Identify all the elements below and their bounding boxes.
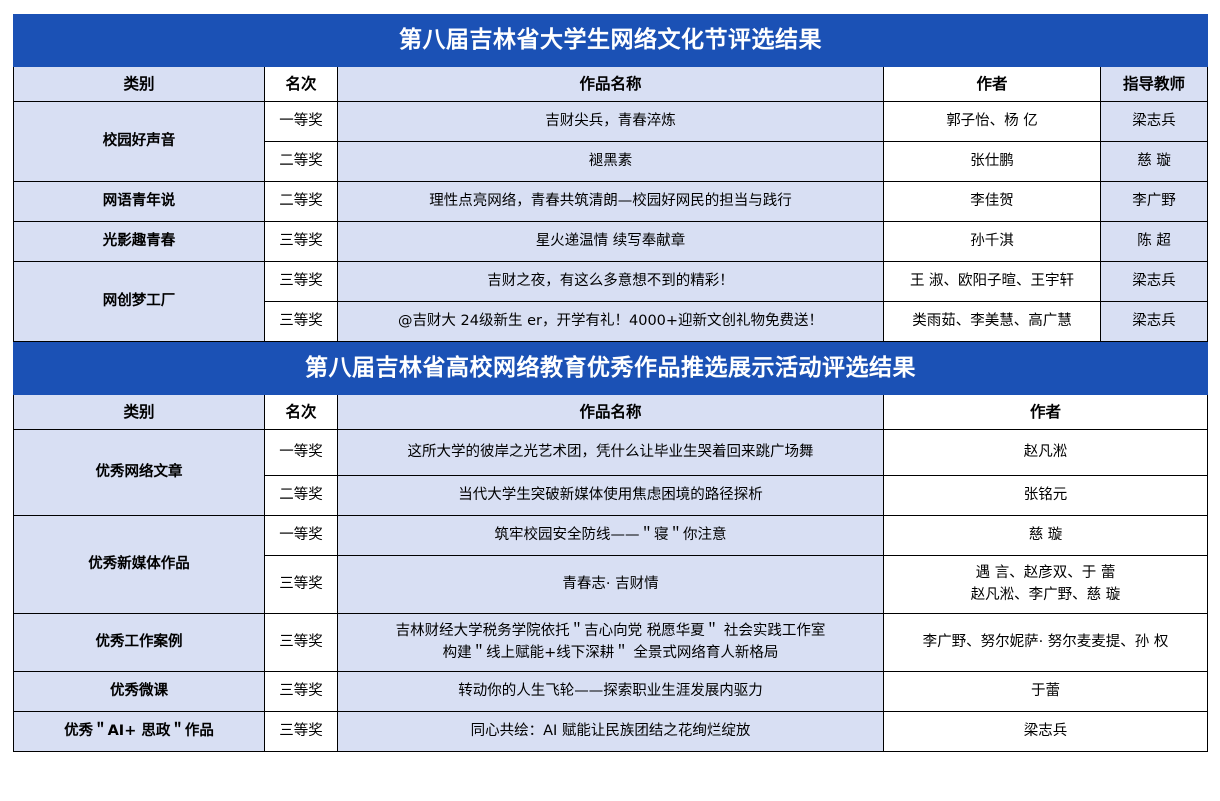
category-cell: 优秀工作案例: [14, 614, 265, 672]
table-1-col-rank: 名次: [265, 67, 338, 102]
rank-cell: 三等奖: [265, 712, 338, 752]
work-title-cell: 理性点亮网络，青春共筑清朗—校园好网民的担当与践行: [338, 182, 884, 222]
author-cell: 于蕾: [884, 672, 1208, 712]
rank-cell: 二等奖: [265, 182, 338, 222]
table-2-title-row: 第八届吉林省高校网络教育优秀作品推选展示活动评选结果: [14, 343, 1208, 395]
author-cell: 王 淑、欧阳子暄、王宇轩: [884, 262, 1101, 302]
rank-cell: 三等奖: [265, 302, 338, 342]
table-1-col-work: 作品名称: [338, 67, 884, 102]
work-title-cell: @吉财大 24级新生 er，开学有礼！4000+迎新文创礼物免费送！: [338, 302, 884, 342]
work-title-cell: 筑牢校园安全防线——＂寝＂你注意: [338, 516, 884, 556]
rank-cell: 三等奖: [265, 614, 338, 672]
category-cell: 网创梦工厂: [14, 262, 265, 342]
rank-cell: 二等奖: [265, 142, 338, 182]
rank-cell: 三等奖: [265, 672, 338, 712]
awards-table-1: 第八届吉林省大学生网络文化节评选结果 类别 名次 作品名称 作者 指导教师 校园…: [13, 14, 1208, 342]
author-cell: 孙千淇: [884, 222, 1101, 262]
table-row: 网语青年说 二等奖 理性点亮网络，青春共筑清朗—校园好网民的担当与践行 李佳贺 …: [14, 182, 1208, 222]
work-title-cell: 青春志· 吉财情: [338, 556, 884, 614]
rank-cell: 三等奖: [265, 556, 338, 614]
table-1-header-row: 类别 名次 作品名称 作者 指导教师: [14, 67, 1208, 102]
work-title-cell: 褪黑素: [338, 142, 884, 182]
category-cell: 网语青年说: [14, 182, 265, 222]
teacher-cell: 陈 超: [1101, 222, 1208, 262]
table-2-title: 第八届吉林省高校网络教育优秀作品推选展示活动评选结果: [14, 343, 1208, 395]
teacher-cell: 慈 璇: [1101, 142, 1208, 182]
category-cell: 校园好声音: [14, 102, 265, 182]
category-cell: 优秀网络文章: [14, 430, 265, 516]
category-cell: 光影趣青春: [14, 222, 265, 262]
teacher-cell: 梁志兵: [1101, 102, 1208, 142]
table-1-col-author: 作者: [884, 67, 1101, 102]
work-title-cell: 这所大学的彼岸之光艺术团，凭什么让毕业生哭着回来跳广场舞: [338, 430, 884, 476]
author-cell: 李广野、努尔妮萨· 努尔麦麦提、孙 权: [884, 614, 1208, 672]
work-title-cell: 当代大学生突破新媒体使用焦虑困境的路径探析: [338, 476, 884, 516]
author-cell: 张铭元: [884, 476, 1208, 516]
work-title-cell: 星火递温情 续写奉献章: [338, 222, 884, 262]
document-page: 第八届吉林省大学生网络文化节评选结果 类别 名次 作品名称 作者 指导教师 校园…: [0, 0, 1220, 801]
author-cell: 赵凡淞: [884, 430, 1208, 476]
category-cell: 优秀新媒体作品: [14, 516, 265, 614]
table-row: 优秀＂AI+ 思政＂作品 三等奖 同心共绘：AI 赋能让民族团结之花绚烂绽放 梁…: [14, 712, 1208, 752]
author-cell: 梁志兵: [884, 712, 1208, 752]
table-1-col-teacher: 指导教师: [1101, 67, 1208, 102]
table-row: 优秀新媒体作品 一等奖 筑牢校园安全防线——＂寝＂你注意 慈 璇: [14, 516, 1208, 556]
category-cell: 优秀＂AI+ 思政＂作品: [14, 712, 265, 752]
category-cell: 优秀微课: [14, 672, 265, 712]
table-1-col-category: 类别: [14, 67, 265, 102]
author-cell: 类雨茹、李美慧、高广慧: [884, 302, 1101, 342]
work-title-cell: 吉财尖兵，青春淬炼: [338, 102, 884, 142]
table-1-title-row: 第八届吉林省大学生网络文化节评选结果: [14, 15, 1208, 67]
table-2-header-row: 类别 名次 作品名称 作者: [14, 395, 1208, 430]
work-title-cell: 转动你的人生飞轮——探索职业生涯发展内驱力: [338, 672, 884, 712]
table-2-col-author: 作者: [884, 395, 1208, 430]
author-cell: 遇 言、赵彦双、于 蕾 赵凡淞、李广野、慈 璇: [884, 556, 1208, 614]
table-row: 校园好声音 一等奖 吉财尖兵，青春淬炼 郭子怡、杨 亿 梁志兵: [14, 102, 1208, 142]
author-cell: 李佳贺: [884, 182, 1101, 222]
table-row: 优秀微课 三等奖 转动你的人生飞轮——探索职业生涯发展内驱力 于蕾: [14, 672, 1208, 712]
rank-cell: 一等奖: [265, 430, 338, 476]
author-cell: 张仕鹏: [884, 142, 1101, 182]
table-row: 优秀网络文章 一等奖 这所大学的彼岸之光艺术团，凭什么让毕业生哭着回来跳广场舞 …: [14, 430, 1208, 476]
rank-cell: 二等奖: [265, 476, 338, 516]
author-cell: 郭子怡、杨 亿: [884, 102, 1101, 142]
table-row: 优秀工作案例 三等奖 吉林财经大学税务学院依托＂吉心向党 税愿华夏＂ 社会实践工…: [14, 614, 1208, 672]
teacher-cell: 梁志兵: [1101, 262, 1208, 302]
work-title-cell: 吉林财经大学税务学院依托＂吉心向党 税愿华夏＂ 社会实践工作室 构建＂线上赋能+…: [338, 614, 884, 672]
table-2-col-category: 类别: [14, 395, 265, 430]
table-2-col-rank: 名次: [265, 395, 338, 430]
teacher-cell: 李广野: [1101, 182, 1208, 222]
work-title-cell: 同心共绘：AI 赋能让民族团结之花绚烂绽放: [338, 712, 884, 752]
rank-cell: 一等奖: [265, 102, 338, 142]
work-title-cell: 吉财之夜，有这么多意想不到的精彩！: [338, 262, 884, 302]
table-row: 光影趣青春 三等奖 星火递温情 续写奉献章 孙千淇 陈 超: [14, 222, 1208, 262]
awards-table-2: 第八届吉林省高校网络教育优秀作品推选展示活动评选结果 类别 名次 作品名称 作者…: [13, 342, 1208, 752]
rank-cell: 一等奖: [265, 516, 338, 556]
rank-cell: 三等奖: [265, 222, 338, 262]
table-2-col-work: 作品名称: [338, 395, 884, 430]
table-1-title: 第八届吉林省大学生网络文化节评选结果: [14, 15, 1208, 67]
author-cell: 慈 璇: [884, 516, 1208, 556]
teacher-cell: 梁志兵: [1101, 302, 1208, 342]
rank-cell: 三等奖: [265, 262, 338, 302]
table-row: 网创梦工厂 三等奖 吉财之夜，有这么多意想不到的精彩！ 王 淑、欧阳子暄、王宇轩…: [14, 262, 1208, 302]
